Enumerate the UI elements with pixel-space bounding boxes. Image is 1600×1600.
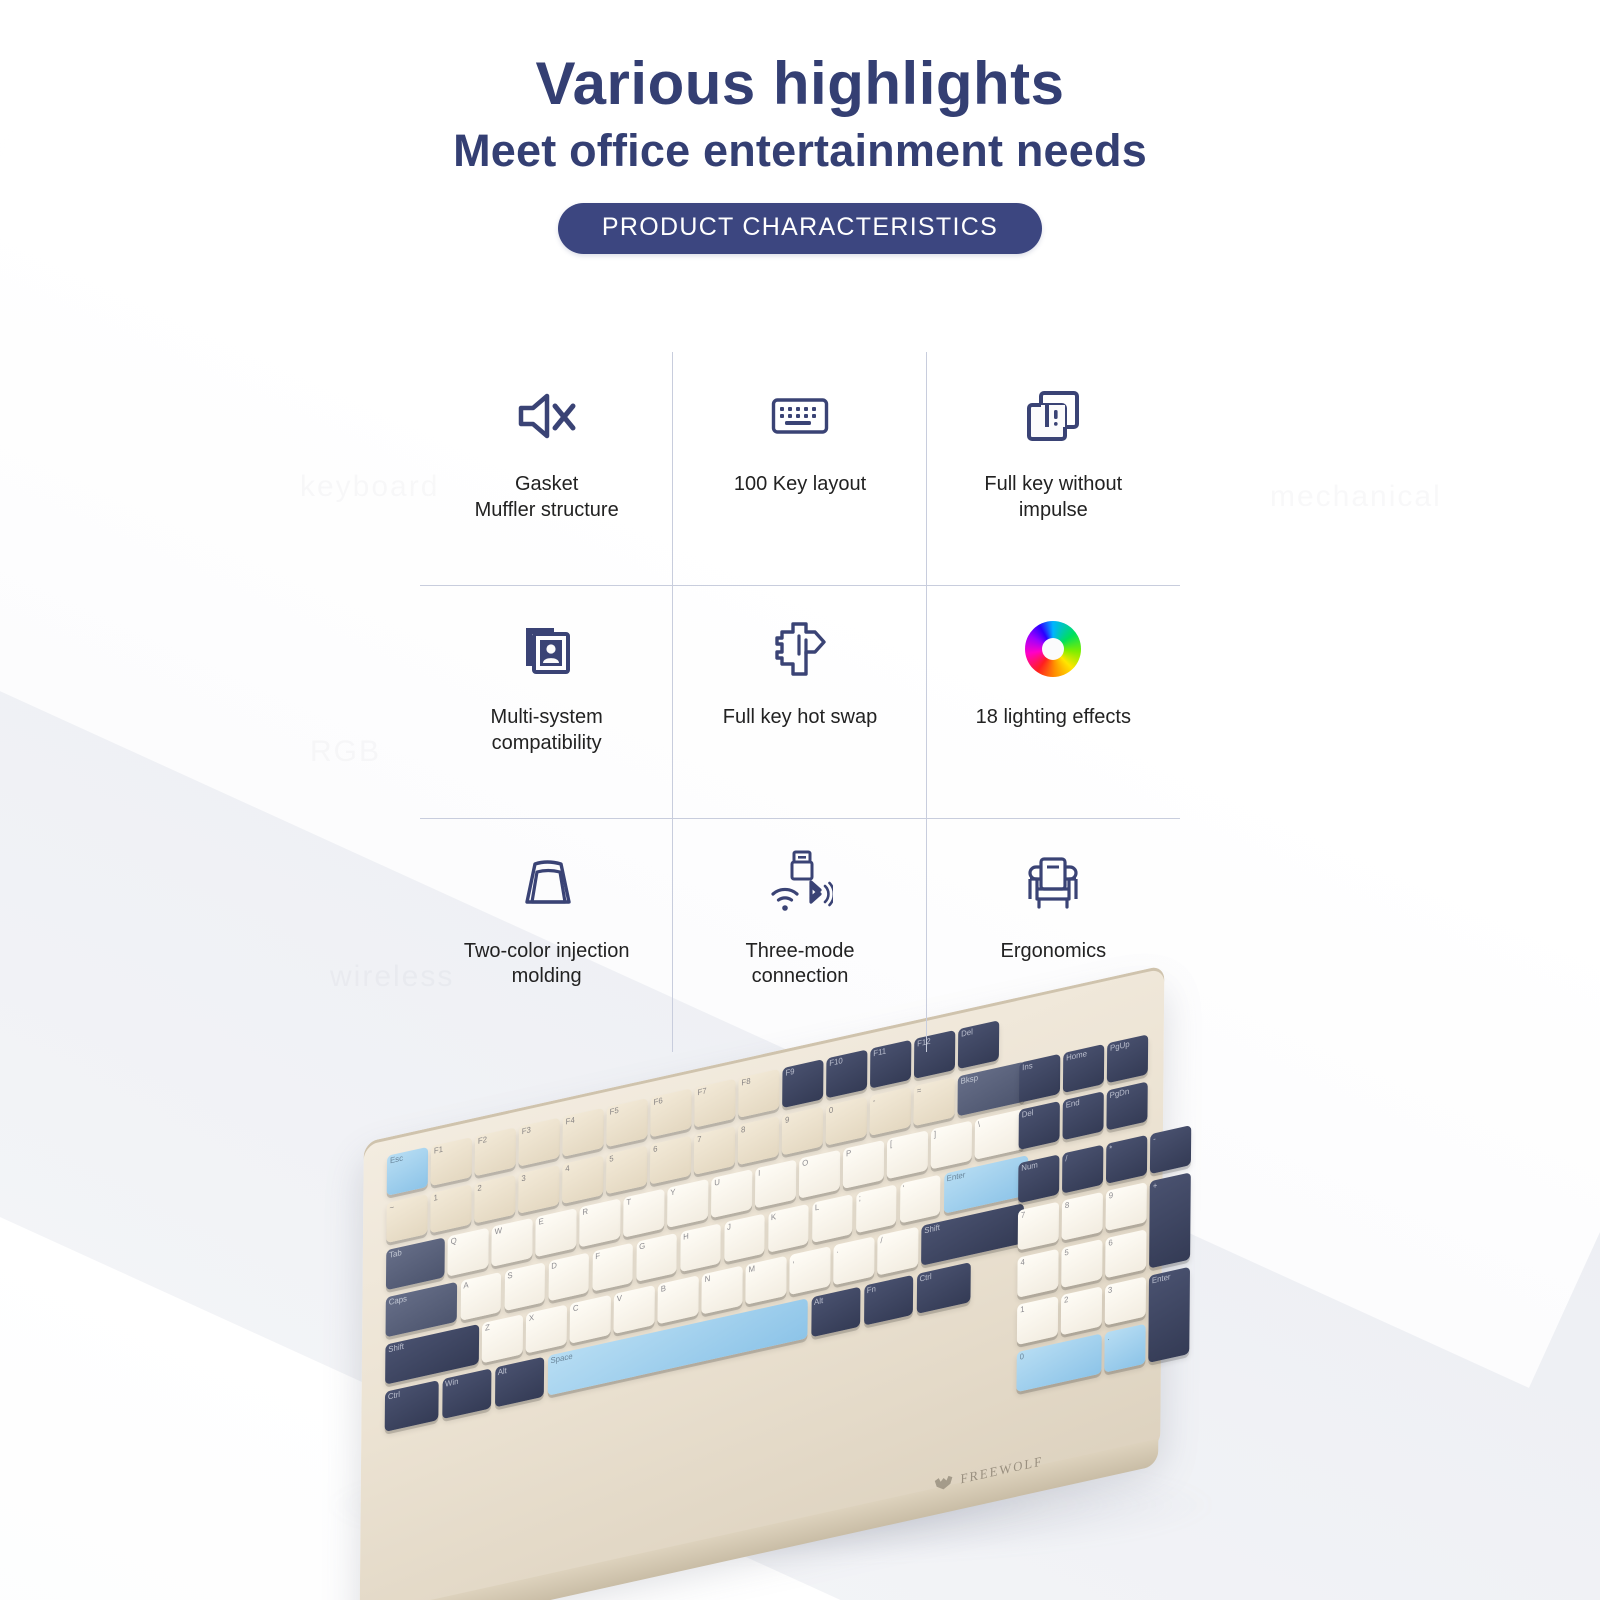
keycap: F4: [562, 1108, 603, 1156]
keycap: F6: [650, 1088, 691, 1136]
keycap: Fn: [864, 1275, 914, 1325]
status-badge: PRODUCT CHARACTERISTICS: [558, 203, 1042, 254]
keycap: F9: [782, 1059, 823, 1107]
keycap: ,: [789, 1246, 830, 1294]
feature-cell-multi-system[interactable]: Multi-system compatibility: [420, 585, 673, 818]
feature-cell-lighting-effects[interactable]: 18 lighting effects: [927, 585, 1180, 818]
keycap: 0: [1016, 1333, 1101, 1391]
keycap: F1: [431, 1137, 472, 1185]
keycap: Alt: [495, 1357, 545, 1407]
keycap: Del: [1019, 1101, 1060, 1149]
keycap: L: [812, 1194, 853, 1242]
keycap: .: [833, 1236, 874, 1284]
keyboard-icon: [771, 380, 829, 452]
feature-label: Gasket Muffler structure: [475, 472, 619, 523]
keycap: F2: [475, 1127, 516, 1175]
multi-system-icon: [520, 613, 574, 685]
product-photo: K8 KEYBOARD EscF1F2F3F4F5F6F7F8F9F10F11F…: [0, 1000, 1600, 1600]
keycap: 7: [694, 1126, 735, 1174]
keycap: Win: [442, 1368, 492, 1418]
keycap: U: [711, 1169, 752, 1217]
keycap: ;: [856, 1184, 897, 1232]
keycap: A: [460, 1272, 501, 1320]
keycap: M: [745, 1256, 786, 1304]
keycap: /: [1062, 1145, 1103, 1193]
keycap: S: [504, 1262, 545, 1310]
keycap: -: [1150, 1125, 1191, 1173]
feature-cell-hot-swap[interactable]: Full key hot swap: [673, 585, 926, 818]
feature-label: Two-color injection molding: [464, 939, 630, 990]
keycap: O: [799, 1150, 840, 1198]
keycap: F3: [519, 1118, 560, 1166]
keycap: R: [579, 1198, 620, 1246]
keycap: =: [914, 1077, 955, 1125]
feature-cell-ergonomics[interactable]: Ergonomics: [927, 819, 1180, 1052]
usb-wireless-bluetooth-icon: [767, 847, 833, 919]
keycap: 8: [1062, 1192, 1103, 1240]
keycap: 9: [782, 1106, 823, 1154]
keycap: H: [680, 1223, 721, 1271]
page-subtitle: Meet office entertainment needs: [0, 125, 1600, 177]
keycap: F5: [606, 1098, 647, 1146]
keycap: D: [548, 1252, 589, 1300]
feature-label: Ergonomics: [1001, 939, 1107, 965]
keycap: 5: [1061, 1239, 1102, 1287]
keycap: C: [570, 1295, 611, 1343]
background-ghost-word: RGB: [310, 735, 381, 769]
background-ghost-word: mechanical: [1270, 480, 1442, 514]
keycap: /: [877, 1227, 918, 1275]
armchair-icon: [1025, 847, 1081, 919]
feature-label: Full key without impulse: [984, 472, 1122, 523]
keycap: 6: [650, 1136, 691, 1184]
feature-cell-three-mode[interactable]: Three-mode connection: [673, 819, 926, 1052]
keycap: Q: [447, 1228, 488, 1276]
feature-label: 100 Key layout: [734, 472, 866, 498]
anti-ghosting-icon: [1025, 380, 1081, 452]
hot-swap-switch-icon: [772, 613, 828, 685]
keycap: +: [1149, 1172, 1190, 1268]
background-ghost-word: keyboard: [300, 470, 439, 504]
keycap: Bksp: [957, 1062, 1024, 1116]
feature-cell-two-color-molding[interactable]: Two-color injection molding: [420, 819, 673, 1052]
keycap: W: [491, 1218, 532, 1266]
keycap: X: [526, 1305, 567, 1353]
keycap: Z: [482, 1314, 523, 1362]
keycap: 2: [474, 1175, 515, 1223]
page-title: Various highlights: [0, 52, 1600, 115]
keycap: 1: [430, 1184, 471, 1232]
keycap: 8: [738, 1116, 779, 1164]
page-header: Various highlights Meet office entertain…: [0, 52, 1600, 254]
keycap: Num: [1018, 1154, 1059, 1202]
keycap: 4: [562, 1155, 603, 1203]
badge-wrap: PRODUCT CHARACTERISTICS: [0, 203, 1600, 254]
keycap: Esc: [387, 1147, 428, 1195]
feature-cell-anti-ghosting[interactable]: Full key without impulse: [927, 352, 1180, 585]
keycap: E: [535, 1208, 576, 1256]
rgb-color-wheel-icon: [1025, 613, 1081, 685]
feature-label: Full key hot swap: [723, 705, 878, 731]
keycap: -: [870, 1087, 911, 1135]
keycap: G: [636, 1233, 677, 1281]
keycap: ~: [386, 1194, 427, 1242]
keycap: [: [887, 1130, 928, 1178]
keycap: B: [657, 1275, 698, 1323]
keycap: K: [768, 1204, 809, 1252]
keycap: Ins: [1019, 1054, 1060, 1102]
keycap: N: [701, 1266, 742, 1314]
feature-cell-gasket-muffler[interactable]: Gasket Muffler structure: [420, 352, 673, 585]
keycap: 4: [1017, 1249, 1058, 1297]
keycap: 3: [518, 1165, 559, 1213]
keycap: F8: [738, 1069, 779, 1117]
keycap: 0: [826, 1097, 867, 1145]
keycap: Tab: [386, 1237, 444, 1289]
keycap: ]: [931, 1121, 972, 1169]
keycap: Enter: [1148, 1267, 1189, 1363]
feature-grid: Gasket Muffler structure: [420, 352, 1180, 1052]
keycap: V: [614, 1285, 655, 1333]
keycap: F: [592, 1243, 633, 1291]
keycap: ': [900, 1175, 941, 1223]
keycap: 1: [1017, 1296, 1058, 1344]
keycap: 7: [1018, 1202, 1059, 1250]
keycap: F7: [694, 1079, 735, 1127]
feature-label: Multi-system compatibility: [491, 705, 603, 756]
speaker-mute-icon: [517, 380, 577, 452]
keycap: 2: [1061, 1286, 1102, 1334]
keycap-icon: [517, 847, 577, 919]
keycap: T: [623, 1189, 664, 1237]
keycap: \: [975, 1109, 1025, 1159]
product-feature-page: keyboard mechanical RGB wireless Various…: [0, 0, 1600, 1600]
feature-cell-key-layout[interactable]: 100 Key layout: [673, 352, 926, 585]
keycap: Alt: [811, 1286, 861, 1336]
keycap: Caps: [386, 1282, 458, 1337]
keycap: J: [724, 1213, 765, 1261]
keycap: End: [1062, 1091, 1103, 1139]
keycap: I: [755, 1159, 796, 1207]
keycap: Y: [667, 1179, 708, 1227]
keycap: F10: [826, 1049, 867, 1097]
keycap: Ctrl: [385, 1380, 439, 1431]
keycap: 5: [606, 1145, 647, 1193]
feature-label: 18 lighting effects: [976, 705, 1131, 731]
keycap: P: [843, 1140, 884, 1188]
feature-label: Three-mode connection: [746, 939, 855, 990]
keycap: Ctrl: [916, 1262, 970, 1313]
